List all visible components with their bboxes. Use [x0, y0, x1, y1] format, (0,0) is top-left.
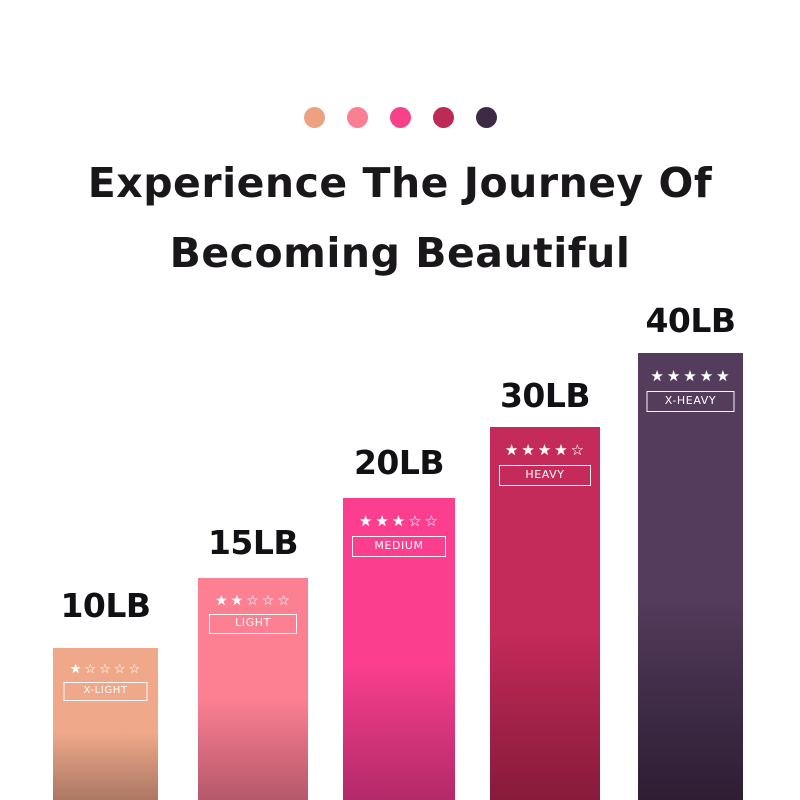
bar-group-30lb[interactable]: 30LB★★★★☆HEAVY	[490, 376, 600, 800]
star-filled-icon: ★	[359, 514, 373, 529]
resistance-band-infographic: Experience The Journey Of Becoming Beaut…	[0, 0, 800, 800]
bar-weight-label: 15LB	[208, 523, 298, 562]
star-filled-icon: ★	[538, 443, 552, 458]
bar-weight-label: 10LB	[60, 586, 150, 625]
star-empty-icon: ☆	[425, 514, 439, 529]
star-filled-icon: ★	[554, 443, 568, 458]
bar-chart: 10LB★☆☆☆☆X-LIGHT15LB★★☆☆☆LIGHT20LB★★★☆☆M…	[0, 0, 800, 800]
bar-column[interactable]: ★★☆☆☆LIGHT	[198, 578, 308, 800]
star-filled-icon: ★	[683, 369, 697, 384]
bar-group-10lb[interactable]: 10LB★☆☆☆☆X-LIGHT	[53, 586, 158, 800]
star-filled-icon: ★	[70, 662, 83, 675]
star-rating: ★★★☆☆	[359, 514, 439, 529]
star-empty-icon: ☆	[408, 514, 422, 529]
star-rating: ★★☆☆☆	[215, 593, 291, 607]
star-filled-icon: ★	[375, 514, 389, 529]
resistance-level-badge: LIGHT	[209, 614, 297, 634]
star-empty-icon: ☆	[246, 593, 260, 607]
star-empty-icon: ☆	[99, 662, 112, 675]
star-filled-icon: ★	[505, 443, 519, 458]
resistance-level-badge: X-LIGHT	[64, 682, 148, 701]
bar-badge-block: ★★★☆☆MEDIUM	[343, 514, 455, 557]
star-empty-icon: ☆	[128, 662, 141, 675]
star-filled-icon: ★	[521, 443, 535, 458]
star-filled-icon: ★	[716, 369, 730, 384]
star-filled-icon: ★	[700, 369, 714, 384]
star-filled-icon: ★	[215, 593, 229, 607]
star-empty-icon: ☆	[85, 662, 98, 675]
bar-column[interactable]: ★★★★★X-HEAVY	[638, 353, 743, 800]
star-empty-icon: ☆	[277, 593, 291, 607]
star-empty-icon: ☆	[114, 662, 127, 675]
bar-badge-block: ★★★★☆HEAVY	[490, 443, 600, 486]
bar-column[interactable]: ★☆☆☆☆X-LIGHT	[53, 648, 158, 800]
star-rating: ★★★★☆	[505, 443, 585, 458]
star-filled-icon: ★	[231, 593, 245, 607]
bar-weight-label: 40LB	[645, 301, 735, 340]
star-filled-icon: ★	[667, 369, 681, 384]
bar-weight-label: 30LB	[500, 376, 590, 415]
star-empty-icon: ☆	[571, 443, 585, 458]
resistance-level-badge: HEAVY	[499, 465, 591, 486]
bar-badge-block: ★☆☆☆☆X-LIGHT	[53, 662, 158, 701]
star-rating: ★☆☆☆☆	[70, 662, 141, 675]
bar-group-20lb[interactable]: 20LB★★★☆☆MEDIUM	[343, 443, 455, 800]
bar-badge-block: ★★★★★X-HEAVY	[638, 369, 743, 412]
bar-badge-block: ★★☆☆☆LIGHT	[198, 593, 308, 634]
bar-column[interactable]: ★★★★☆HEAVY	[490, 427, 600, 800]
resistance-level-badge: X-HEAVY	[647, 391, 735, 412]
bar-group-40lb[interactable]: 40LB★★★★★X-HEAVY	[638, 301, 743, 800]
bar-weight-label: 20LB	[354, 443, 444, 482]
star-filled-icon: ★	[392, 514, 406, 529]
star-filled-icon: ★	[650, 369, 664, 384]
bar-column[interactable]: ★★★☆☆MEDIUM	[343, 498, 455, 800]
star-rating: ★★★★★	[650, 369, 730, 384]
resistance-level-badge: MEDIUM	[352, 536, 446, 557]
star-empty-icon: ☆	[262, 593, 276, 607]
bar-group-15lb[interactable]: 15LB★★☆☆☆LIGHT	[198, 523, 308, 800]
